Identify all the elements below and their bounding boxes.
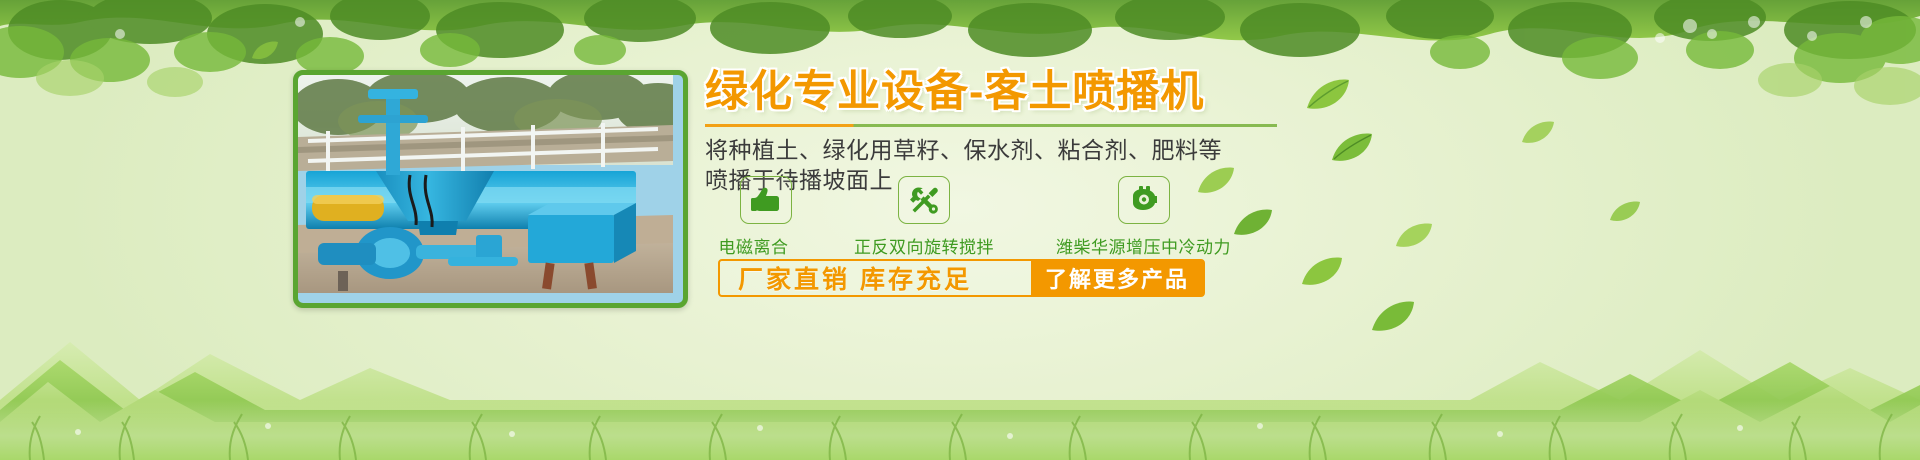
title-divider (705, 124, 1277, 127)
leaf-icon (1608, 200, 1642, 229)
learn-more-button[interactable]: 了解更多产品 (1031, 261, 1203, 295)
thumbs-up-icon (740, 176, 792, 224)
feature-label: 潍柴华源增压中冷动力 (1056, 233, 1231, 258)
leaf-icon (1394, 222, 1434, 255)
leaf-icon (1370, 300, 1416, 339)
promo-banner: 绿化专业设备-客土喷播机 将种植土、绿化用草籽、保水剂、粘合剂、肥料等 喷播于待… (0, 0, 1920, 460)
engine-gear-icon (1118, 176, 1170, 224)
page-title: 绿化专业设备-客土喷播机 (705, 66, 1285, 118)
feature-label: 电磁离合 (719, 233, 789, 258)
leaf-icon (1520, 120, 1556, 151)
feature-item-electromagnetic-clutch[interactable]: 电磁离合 (715, 176, 792, 258)
leaf-icon (1305, 78, 1351, 117)
feature-item-bidirectional-mixing[interactable]: 正反双向旋转搅拌 (854, 176, 994, 258)
leaf-icon (1300, 256, 1344, 293)
feature-label: 正反双向旋转搅拌 (854, 233, 994, 258)
cta-slogan: 厂家直销 库存充足 (720, 260, 972, 296)
wrench-screwdriver-icon (898, 176, 950, 224)
product-photo (293, 70, 688, 308)
feature-item-weichai-power[interactable]: 潍柴华源增压中冷动力 (1056, 176, 1231, 258)
leaf-icon (1330, 132, 1374, 169)
description-line-1: 将种植土、绿化用草籽、保水剂、粘合剂、肥料等 (705, 135, 1285, 165)
leaf-icon (250, 40, 280, 67)
feature-list: 电磁离合 正反双向旋转搅拌 (705, 176, 1285, 258)
cta-bar: 厂家直销 库存充足 了解更多产品 (718, 259, 1205, 297)
banner-content: 绿化专业设备-客土喷播机 将种植土、绿化用草籽、保水剂、粘合剂、肥料等 喷播于待… (705, 66, 1285, 386)
